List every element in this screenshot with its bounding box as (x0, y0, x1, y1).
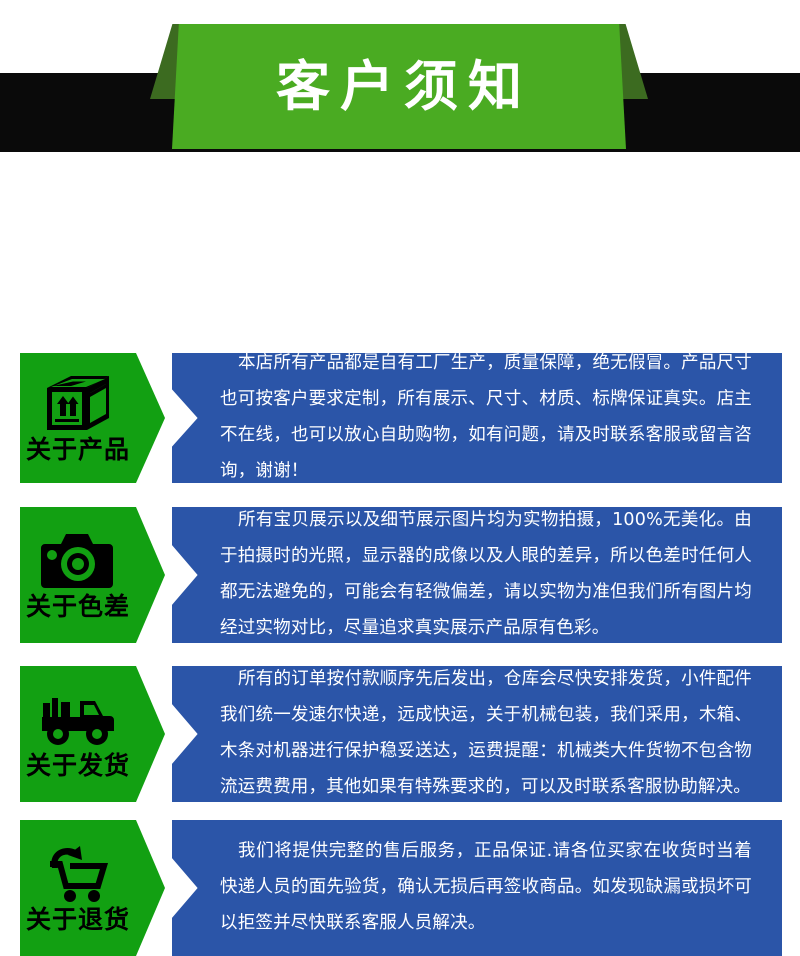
label-box-shipping[interactable]: 关于发货 (20, 666, 165, 802)
header-green-banner: 客户须知 (172, 24, 626, 149)
text-panel-color: 所有宝贝展示以及细节展示图片均为实物拍摄，100%无美化。由于拍摄时的光照，显示… (172, 507, 782, 643)
camera-icon (39, 529, 117, 591)
text-panel-return: 我们将提供完整的售后服务，正品保证.请各位买家在收货时当着快递人员的面先验货，确… (172, 820, 782, 956)
label-box-return[interactable]: 关于退货 (20, 820, 165, 956)
notice-text-product: 本店所有产品都是自有工厂生产，质量保障，绝无假冒。产品尺寸也可按客户要求定制，所… (172, 346, 782, 490)
label-text-product: 关于产品 (26, 436, 130, 464)
notice-text-return: 我们将提供完整的售后服务，正品保证.请各位买家在收货时当着快递人员的面先验货，确… (172, 834, 782, 942)
forklift-truck-icon (39, 688, 117, 750)
package-box-icon (39, 372, 117, 434)
label-box-product[interactable]: 关于产品 (20, 353, 165, 483)
label-text-color: 关于色差 (26, 593, 130, 621)
text-panel-shipping: 所有的订单按付款顺序先后发出，仓库会尽快安排发货，小件配件我们统一发速尔快递，远… (172, 666, 782, 802)
return-cart-icon (39, 842, 117, 904)
notice-text-shipping: 所有的订单按付款顺序先后发出，仓库会尽快安排发货，小件配件我们统一发速尔快递，远… (172, 662, 782, 806)
text-panel-product: 本店所有产品都是自有工厂生产，质量保障，绝无假冒。产品尺寸也可按客户要求定制，所… (172, 353, 782, 483)
customer-notice-page: 客户须知 (0, 0, 800, 800)
notice-text-color: 所有宝贝展示以及细节展示图片均为实物拍摄，100%无美化。由于拍摄时的光照，显示… (172, 503, 782, 647)
header-banner: 客户须知 (0, 0, 800, 170)
label-text-return: 关于退货 (26, 906, 130, 934)
label-text-shipping: 关于发货 (26, 752, 130, 780)
page-title: 客户须知 (172, 24, 626, 149)
label-box-color[interactable]: 关于色差 (20, 507, 165, 643)
